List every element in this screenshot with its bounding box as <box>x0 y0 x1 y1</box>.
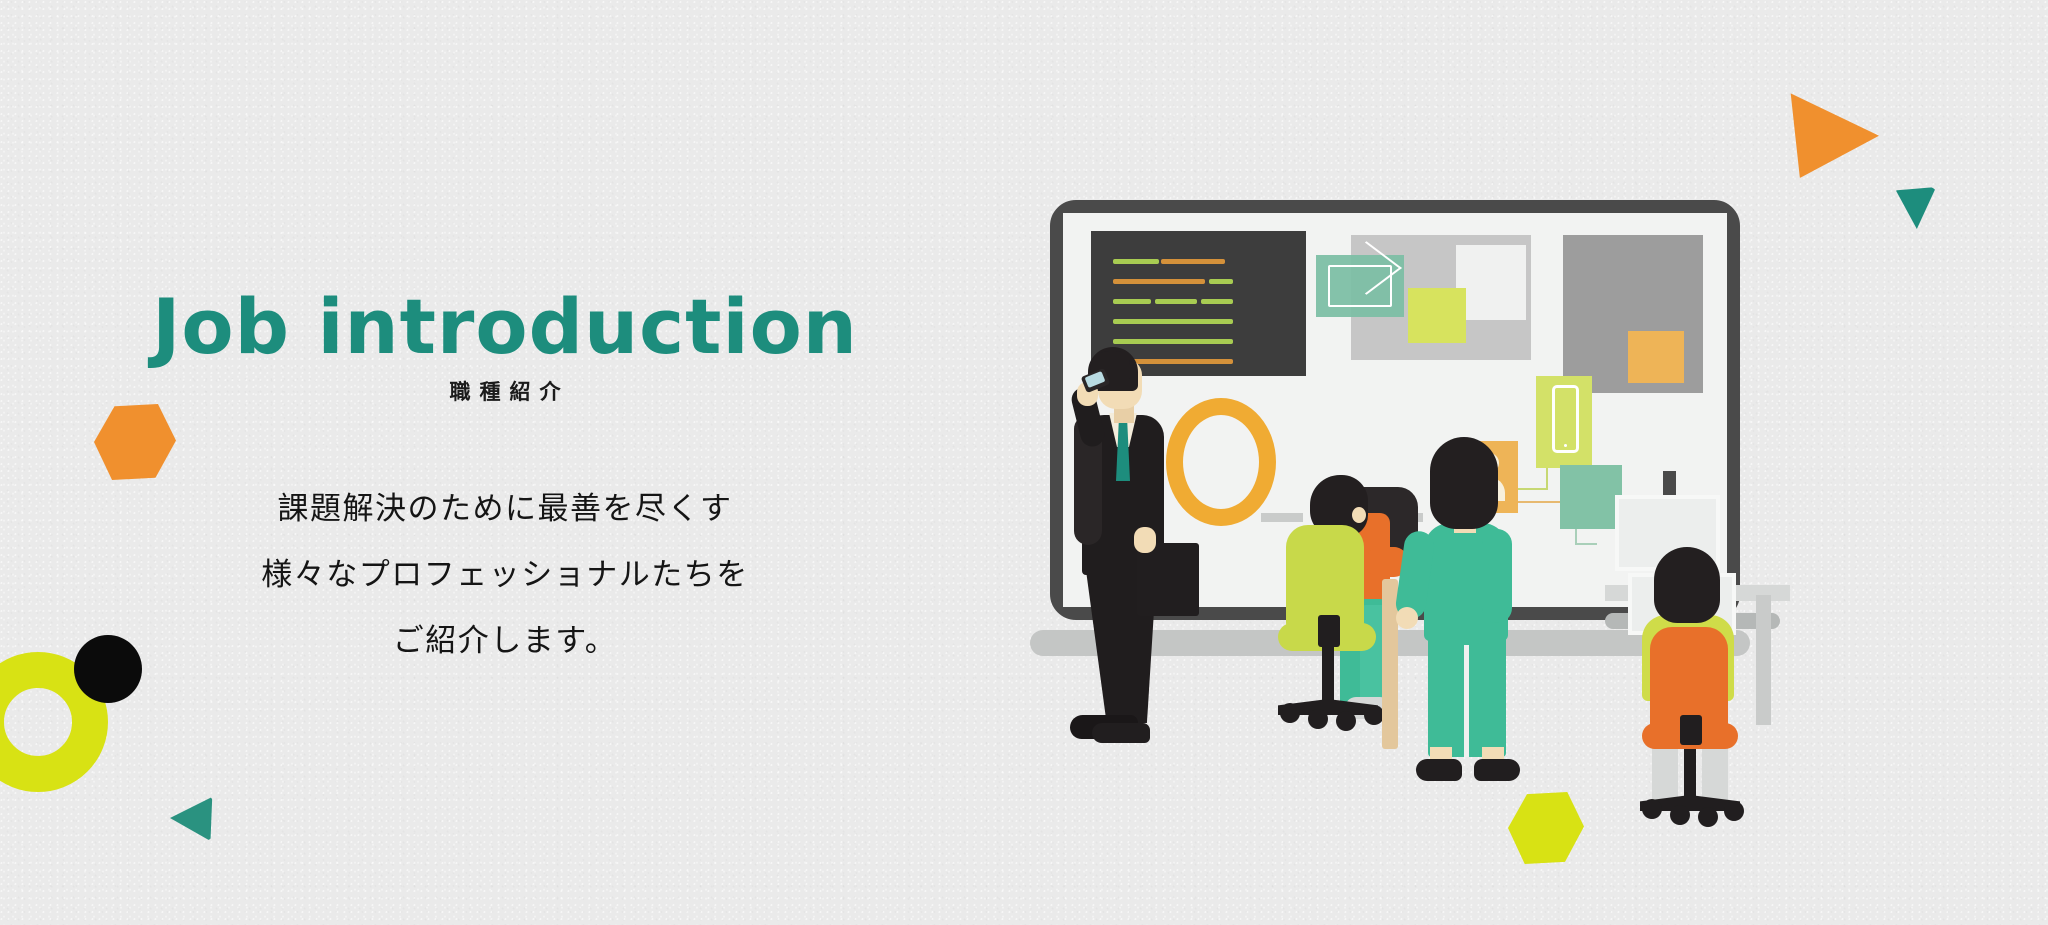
chair-caster <box>1364 705 1384 725</box>
connector-line <box>1575 528 1577 544</box>
connector-line <box>1546 468 1548 490</box>
office-chair-knob <box>1680 715 1702 745</box>
lime-hexagon-icon <box>1508 792 1584 864</box>
board-mark <box>1261 513 1303 522</box>
connector-line <box>1575 543 1597 545</box>
woman-shoe <box>1416 759 1462 781</box>
woman-hair <box>1430 437 1498 529</box>
amber-card <box>1628 331 1684 383</box>
envelope-icon <box>1328 265 1392 307</box>
teal-triangle-down-icon <box>1895 187 1937 229</box>
orange-triangle-right-icon <box>1787 88 1879 178</box>
businessman-hand <box>1134 527 1156 553</box>
page-subtitle: 職種紹介 <box>0 376 1010 406</box>
office-chair-post <box>1684 745 1696 803</box>
teal-card <box>1560 465 1622 529</box>
chair-caster <box>1724 801 1744 821</box>
connector-line <box>1518 501 1562 503</box>
businessman-shoe <box>1092 723 1150 743</box>
smartphone-icon <box>1552 385 1579 453</box>
connector-line <box>1518 488 1548 490</box>
office-chair-knob <box>1318 615 1340 647</box>
hero-description-line-1: 課題解決のために最善を尽くす <box>0 476 1010 542</box>
chair-caster <box>1308 709 1328 729</box>
hero-description-line-2: 様々なプロフェッショナルたちを <box>0 542 1010 608</box>
woman-hand <box>1396 607 1418 629</box>
worker-hair <box>1654 547 1720 623</box>
desk-leg <box>1756 595 1771 725</box>
hero-description-line-3: ご紹介します。 <box>0 608 1010 674</box>
hero-banner: Job introduction 職種紹介 課題解決のために最善を尽くす 様々な… <box>0 0 2048 925</box>
colleague-ear <box>1352 507 1366 523</box>
chair-caster <box>1642 799 1662 819</box>
woman-shoe <box>1474 759 1520 781</box>
page-title: Job introduction <box>0 282 1010 371</box>
hero-description: 課題解決のために最善を尽くす 様々なプロフェッショナルたちを ご紹介します。 <box>0 476 1010 674</box>
white-poster <box>1456 245 1526 320</box>
woman-arm <box>1482 529 1512 623</box>
woman-leg-split <box>1464 645 1469 757</box>
chair-caster <box>1670 805 1690 825</box>
chair-caster <box>1698 807 1718 827</box>
lime-note <box>1408 288 1466 343</box>
office-chair-post <box>1322 647 1334 707</box>
chair-caster <box>1280 703 1300 723</box>
hero-text-column: Job introduction 職種紹介 課題解決のために最善を尽くす 様々な… <box>0 0 1010 925</box>
chair-caster <box>1336 711 1356 731</box>
office-team-illustration <box>1030 175 1820 775</box>
orange-ring-accent <box>1166 398 1276 526</box>
briefcase-icon <box>1137 543 1199 616</box>
